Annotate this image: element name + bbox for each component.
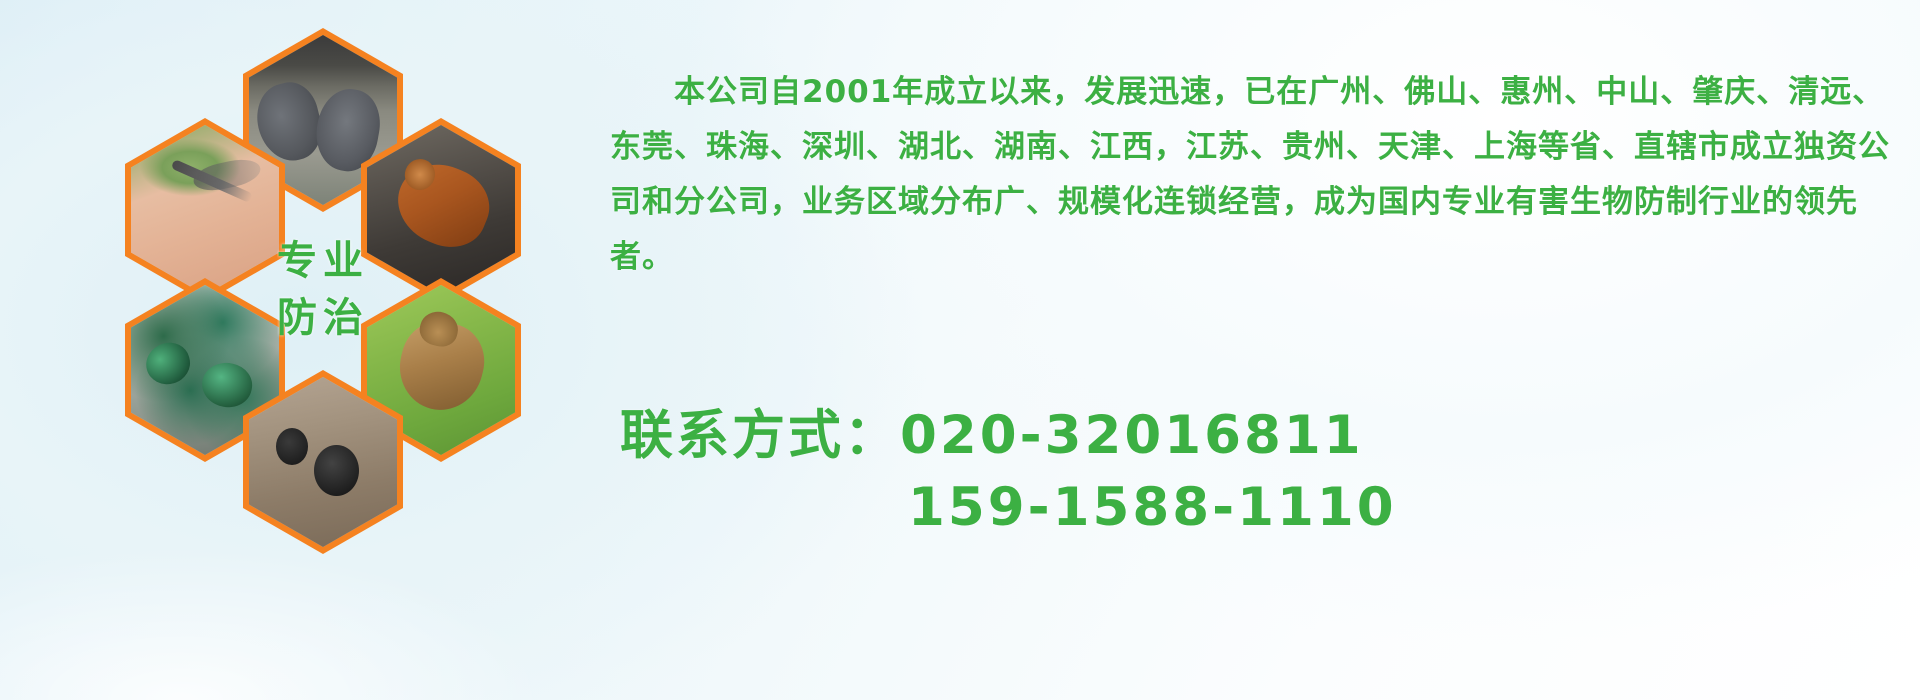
company-intro-paragraph: 本公司自2001年成立以来，发展迅速，已在广州、佛山、惠州、中山、肇庆、清远、东… bbox=[610, 65, 1900, 285]
contact-line-secondary: 159-1588-1110 bbox=[620, 472, 1920, 544]
slogan-line-2: 防治 bbox=[277, 290, 369, 347]
ant-photo bbox=[249, 377, 397, 547]
slogan-line-1: 专业 bbox=[277, 233, 369, 290]
hex-image-cluster: 专业 防治 bbox=[95, 10, 595, 570]
contact-block: 联系方式：020-32016811 159-1588-1110 bbox=[620, 400, 1920, 544]
intro-copy-block: 本公司自2001年成立以来，发展迅速，已在广州、佛山、惠州、中山、肇庆、清远、东… bbox=[610, 34, 1900, 316]
ant-icon bbox=[249, 377, 397, 547]
contact-line-primary: 联系方式：020-32016811 bbox=[620, 400, 1920, 472]
promo-banner: 专业 防治 本公司自2001年成立以来，发展迅速，已在广州、佛山、惠州、中山、肇… bbox=[0, 0, 1920, 700]
